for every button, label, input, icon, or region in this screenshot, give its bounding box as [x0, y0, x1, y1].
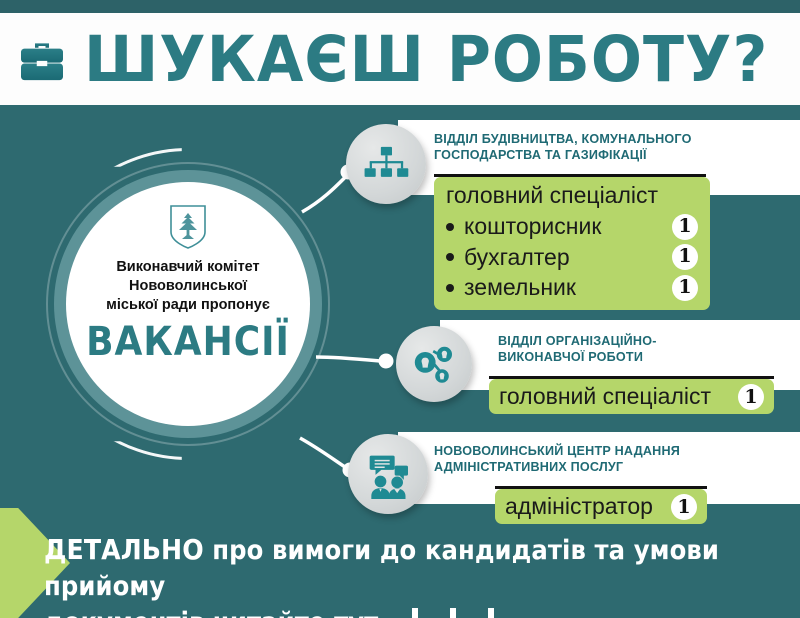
bullet-icon [446, 253, 454, 261]
section-3-dept-line2: АДМІНІСТРАТИВНИХ ПОСЛУГ [434, 459, 784, 475]
section-1-role-0-count: 1 [672, 214, 698, 240]
section-1-roles-box: головний спеціаліст кошторисник 1 бухгал… [434, 177, 710, 310]
section-3-dept-line1: НОВОВОЛИНСЬКИЙ ЦЕНТР НАДАННЯ [434, 443, 784, 459]
section-3-department-title: НОВОВОЛИНСЬКИЙ ЦЕНТР НАДАННЯ АДМІНІСТРАТ… [434, 443, 784, 475]
section-3-role-0-count: 1 [671, 494, 697, 520]
center-subtitle-line2: Нововолинської [106, 277, 270, 296]
poster-root: ШУКАЄШ РОБОТУ? Виконавч [0, 0, 800, 618]
arrow-down-icon [403, 608, 427, 618]
people-network-icon [396, 326, 472, 402]
section-3-roles-box: адміністратор 1 [495, 489, 707, 524]
bullet-icon [446, 284, 454, 292]
footer-cta: ДЕТАЛЬНО про вимоги до кандидатів та умо… [44, 531, 784, 618]
section-2-role-0-label: головний спеціаліст [499, 383, 738, 410]
footer-line-1: ДЕТАЛЬНО про вимоги до кандидатів та умо… [44, 531, 784, 605]
coat-of-arms-shield-pine-tree-icon [168, 204, 208, 250]
top-strip [0, 0, 800, 13]
section-1-dept-line2: ГОСПОДАРСТВА ТА ГАЗИФІКАЦІЇ [434, 147, 784, 163]
center-headline: ВАКАНСІЇ [86, 322, 290, 362]
list-item: кошторисник 1 [446, 213, 698, 239]
section-1-department-title: ВІДДІЛ БУДІВНИЦТВА, КОМУНАЛЬНОГО ГОСПОДА… [434, 131, 784, 163]
section-1-role-2-label: земельник [464, 274, 672, 300]
arrow-down-icon [479, 608, 503, 618]
center-badge: Виконавчий комітет Нововолинської місько… [66, 182, 310, 426]
section-2-role-0-count: 1 [738, 384, 764, 410]
section-3-role-0-label: адміністратор [505, 493, 671, 520]
bullet-icon [446, 223, 454, 231]
section-1-dept-line1: ВІДДІЛ БУДІВНИЦТВА, КОМУНАЛЬНОГО [434, 131, 784, 147]
center-subtitle-line1: Виконавчий комітет [106, 258, 270, 277]
org-chart-icon [346, 124, 426, 204]
consultation-people-speech-icon [348, 434, 428, 514]
page-title: ШУКАЄШ РОБОТУ? [84, 28, 768, 91]
footer-lead: ДЕТАЛЬНО [44, 533, 204, 566]
footer-line-2: документів читайте тут [44, 605, 784, 618]
briefcase-icon [14, 32, 70, 88]
arrow-group [403, 608, 503, 618]
section-2-dept-line1: ВІДДІЛ ОРГАНІЗАЦІЙНО- [498, 333, 798, 349]
section-1-role-heading: головний спеціаліст [446, 182, 698, 208]
section-1-role-0-label: кошторисник [464, 213, 672, 239]
list-item: бухгалтер 1 [446, 244, 698, 270]
header-banner: ШУКАЄШ РОБОТУ? [0, 13, 800, 105]
section-1-role-2-count: 1 [672, 275, 698, 301]
section-1-role-1-label: бухгалтер [464, 244, 672, 270]
center-subtitle-line3: міської ради пропонує [106, 296, 270, 315]
arrow-down-icon [441, 608, 465, 618]
section-2-department-title: ВІДДІЛ ОРГАНІЗАЦІЙНО- ВИКОНАВЧОЇ РОБОТИ [498, 333, 798, 365]
list-item: земельник 1 [446, 274, 698, 300]
section-1-role-1-count: 1 [672, 244, 698, 270]
section-2-dept-line2: ВИКОНАВЧОЇ РОБОТИ [498, 349, 798, 365]
footer-line2-text: документів читайте тут [44, 607, 378, 618]
section-2-roles-box: головний спеціаліст 1 [489, 379, 774, 414]
center-subtitle: Виконавчий комітет Нововолинської місько… [106, 258, 270, 315]
